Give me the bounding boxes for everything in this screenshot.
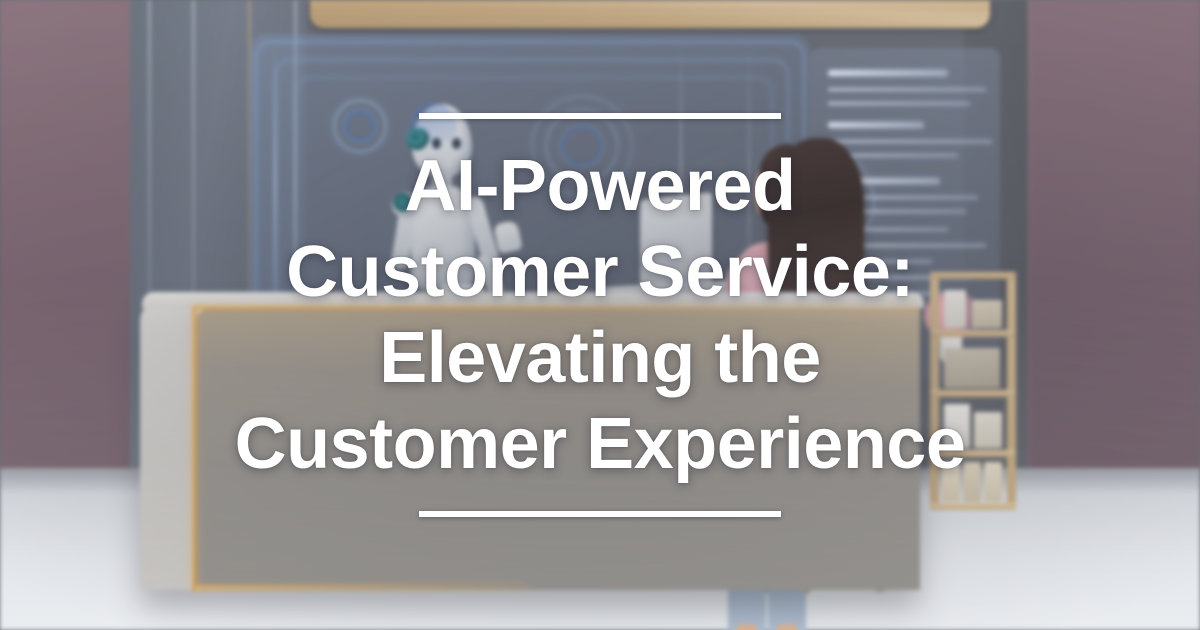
headline-overlay: AI-Powered Customer Service: Elevating t… — [0, 0, 1200, 630]
banner-image: AI-Powered Customer Service: Elevating t… — [0, 0, 1200, 630]
page-title: AI-Powered Customer Service: Elevating t… — [235, 143, 966, 487]
decorative-rule-top — [419, 113, 781, 119]
decorative-rule-bottom — [419, 511, 781, 517]
